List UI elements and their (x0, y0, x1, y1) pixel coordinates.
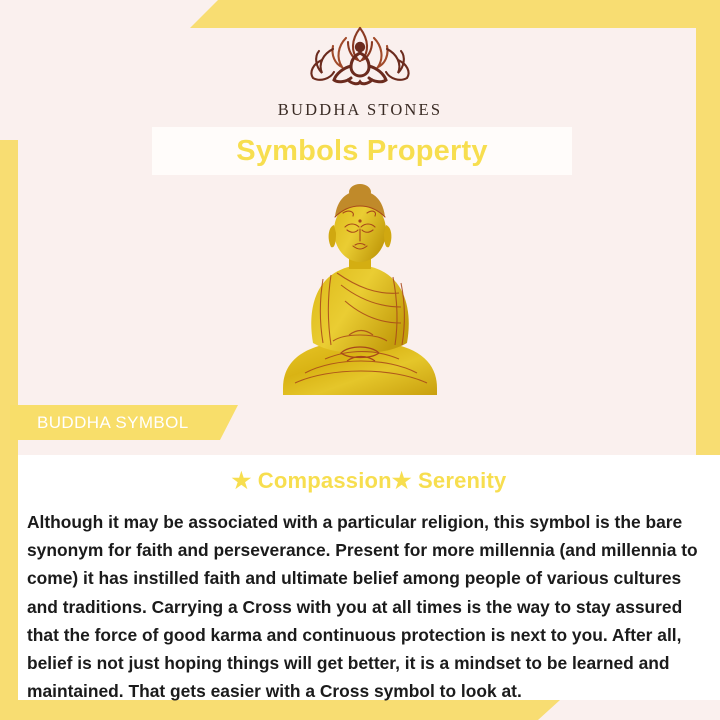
content-paragraph: Although it may be associated with a par… (18, 494, 720, 705)
brand-name: BUDDHA STONES (278, 100, 442, 120)
buddha-symbol-tag-label: BUDDHA SYMBOL (10, 413, 189, 433)
poster-root: BUDDHA STONES Symbols Property (0, 0, 720, 720)
buddha-illustration (0, 183, 720, 403)
title-banner: Symbols Property (152, 127, 572, 175)
seated-buddha-statue (265, 183, 455, 403)
page-title: Symbols Property (236, 135, 487, 168)
brand-logo: BUDDHA STONES (0, 22, 720, 120)
lotus-meditation-icon (300, 22, 420, 94)
content-panel: ★ Compassion★ Serenity Although it may b… (18, 455, 720, 700)
content-subheading: ★ Compassion★ Serenity (18, 455, 720, 494)
buddha-symbol-tag: BUDDHA SYMBOL (10, 405, 238, 440)
